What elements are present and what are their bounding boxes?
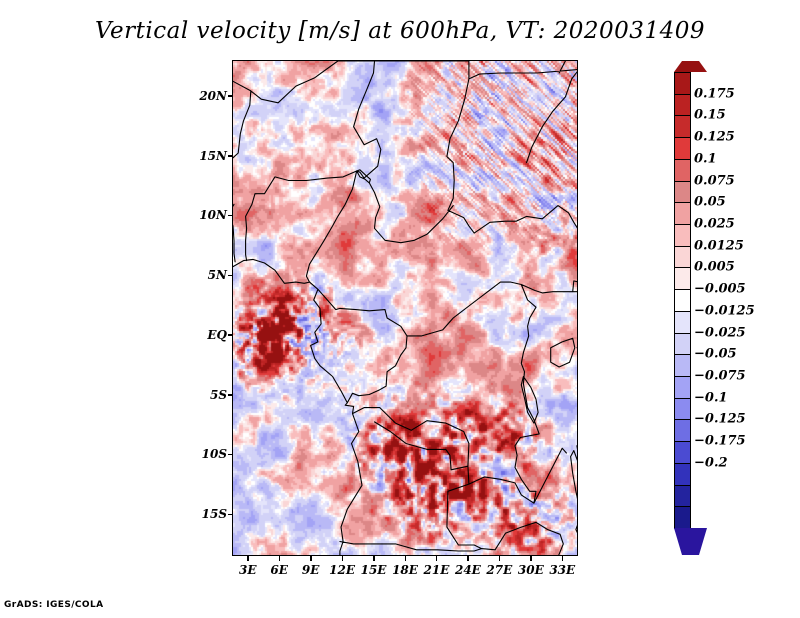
- colorbar-tick-label: 0.05: [694, 195, 726, 210]
- lat-tick-label: 5S: [194, 388, 227, 402]
- country-borders-overlay: [233, 61, 578, 556]
- colorbar-band: [674, 441, 691, 464]
- map-plot-area: [232, 60, 578, 556]
- colorbar-tick-label: −0.005: [694, 282, 746, 297]
- lon-tick-label: 15E: [361, 563, 387, 577]
- colorbar-tick-label: −0.175: [694, 434, 746, 449]
- lon-tick-mark: [310, 556, 312, 561]
- colorbar-tick-label: 0.15: [694, 108, 726, 123]
- colorbar-band: [674, 181, 691, 204]
- lon-tick-label: 18E: [392, 563, 418, 577]
- colorbar-tick-label: 0.025: [694, 217, 735, 232]
- colorbar-band: [674, 333, 691, 356]
- lon-tick-label: 33E: [549, 563, 575, 577]
- colorbar-tick-label: −0.075: [694, 369, 746, 384]
- lon-tick-mark: [436, 556, 438, 561]
- lat-tick-mark: [228, 394, 233, 396]
- colorbar-band: [674, 115, 691, 138]
- lon-tick-label: 6E: [270, 563, 288, 577]
- colorbar-tick-label: −0.2: [694, 455, 728, 470]
- lon-tick-label: 9E: [302, 563, 320, 577]
- lon-tick-mark: [467, 556, 469, 561]
- lat-tick-label: EQ: [194, 328, 227, 342]
- lon-tick-mark: [247, 556, 249, 561]
- colorbar-band: [674, 289, 691, 312]
- colorbar-band: [674, 376, 691, 399]
- lat-tick-mark: [228, 155, 233, 157]
- colorbar-tick-label: 0.005: [694, 260, 735, 275]
- colorbar-band: [674, 506, 691, 529]
- colorbar-max-arrow: [674, 61, 707, 72]
- colorbar-tick-label: −0.025: [694, 325, 746, 340]
- colorbar-band: [674, 137, 691, 160]
- lat-tick-mark: [228, 454, 233, 456]
- footer-credit: GrADS: IGES/COLA: [4, 600, 104, 610]
- lon-tick-label: 27E: [486, 563, 512, 577]
- colorbar-tick-label: −0.05: [694, 347, 737, 362]
- colorbar-band: [674, 354, 691, 377]
- colorbar-band: [674, 267, 691, 290]
- lat-tick-mark: [228, 95, 233, 97]
- lat-tick-label: 20N: [194, 89, 227, 103]
- lat-tick-mark: [228, 215, 233, 217]
- colorbar-tick-label: 0.075: [694, 173, 735, 188]
- colorbar-band: [674, 224, 691, 247]
- colorbar-band: [674, 398, 691, 421]
- colorbar-band: [674, 94, 691, 117]
- colorbar-band: [674, 72, 691, 95]
- colorbar-band: [674, 463, 691, 486]
- colorbar-band: [674, 485, 691, 508]
- lon-tick-label: 3E: [239, 563, 257, 577]
- lon-tick-label: 24E: [455, 563, 481, 577]
- colorbar-band: [674, 159, 691, 182]
- colorbar-tick-label: −0.0125: [694, 303, 755, 318]
- lon-tick-label: 12E: [329, 563, 355, 577]
- lat-tick-mark: [228, 275, 233, 277]
- colorbar-tick-label: 0.175: [694, 86, 735, 101]
- colorbar-tick-label: 0.125: [694, 130, 735, 145]
- colorbar-band: [674, 246, 691, 269]
- colorbar-tick-label: −0.125: [694, 412, 746, 427]
- colorbar-bands: [674, 72, 691, 528]
- colorbar-tick-label: 0.1: [694, 151, 717, 166]
- lat-tick-mark: [228, 514, 233, 516]
- lon-tick-label: 30E: [518, 563, 544, 577]
- lon-tick-mark: [279, 556, 281, 561]
- lon-tick-mark: [499, 556, 501, 561]
- lon-tick-mark: [405, 556, 407, 561]
- colorbar-tick-label: 0.0125: [694, 238, 744, 253]
- lon-tick-label: 21E: [424, 563, 450, 577]
- colorbar-band: [674, 419, 691, 442]
- lat-tick-mark: [228, 334, 233, 336]
- grads-plot-canvas: Vertical velocity [m/s] at 600hPa, VT: 2…: [0, 0, 800, 618]
- lon-tick-mark: [562, 556, 564, 561]
- lon-tick-mark: [342, 556, 344, 561]
- page-title: Vertical velocity [m/s] at 600hPa, VT: 2…: [0, 18, 800, 44]
- lon-tick-mark: [373, 556, 375, 561]
- lat-tick-label: 10S: [194, 447, 227, 461]
- colorbar-tick-label: −0.1: [694, 390, 728, 405]
- lat-tick-label: 5N: [194, 268, 227, 282]
- colorbar-min-arrow: [674, 528, 707, 555]
- lat-tick-label: 10N: [194, 208, 227, 222]
- lat-tick-label: 15S: [194, 507, 227, 521]
- colorbar-band: [674, 311, 691, 334]
- colorbar-band: [674, 202, 691, 225]
- lon-tick-mark: [530, 556, 532, 561]
- lat-tick-label: 15N: [194, 149, 227, 163]
